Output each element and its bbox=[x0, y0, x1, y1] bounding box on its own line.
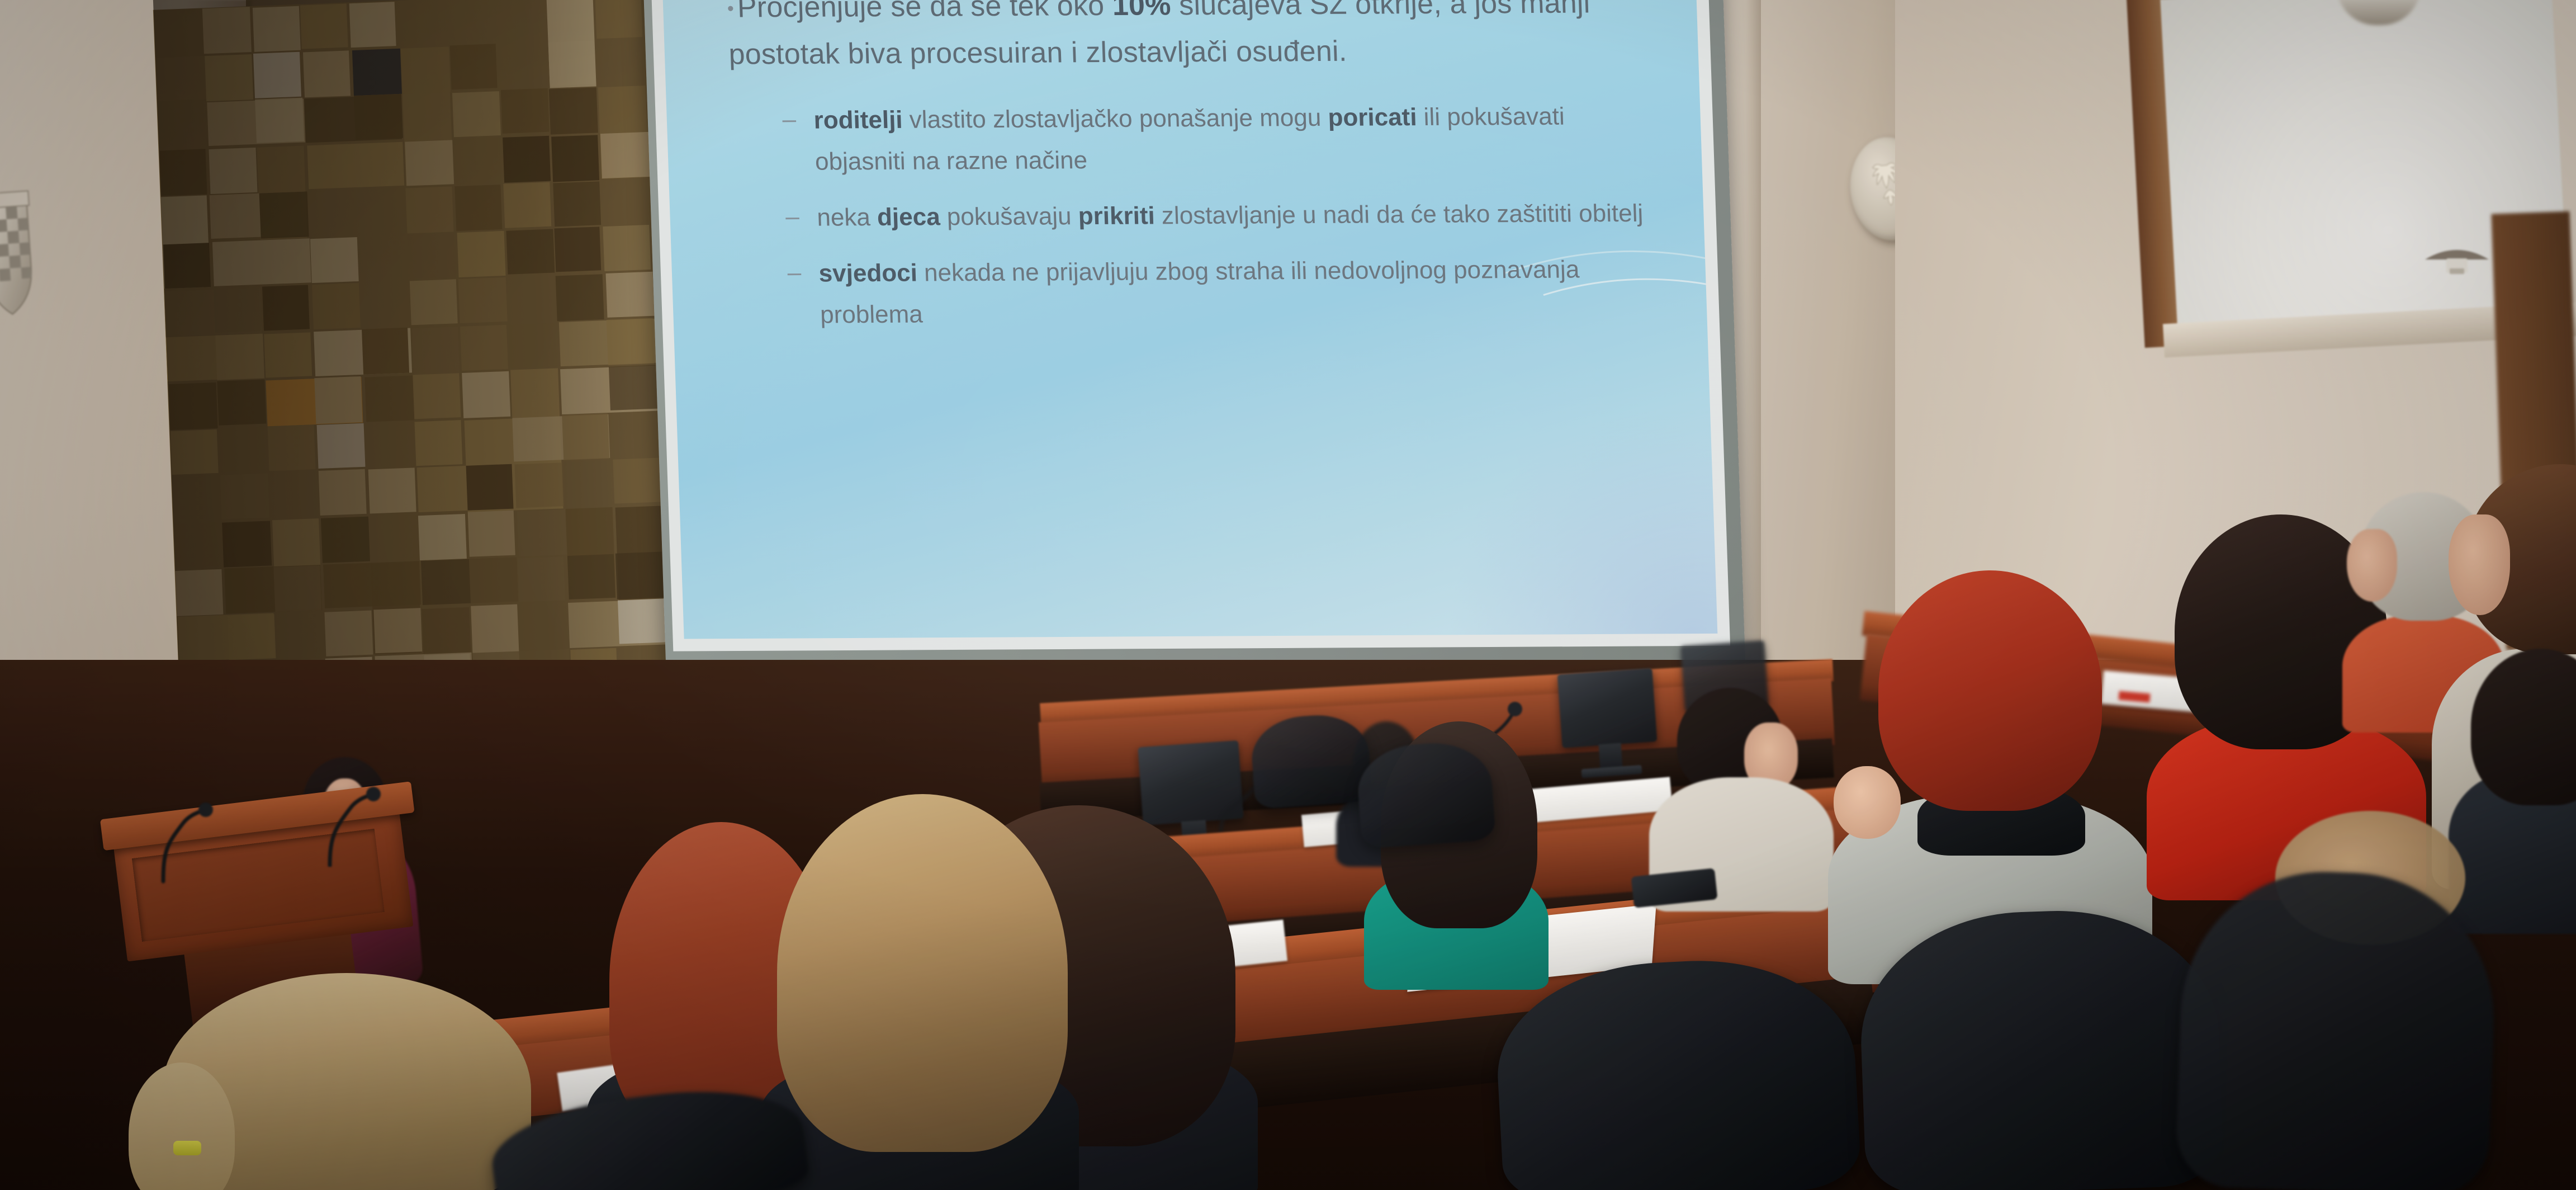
mosaic-tile bbox=[319, 469, 367, 516]
mosaic-tile bbox=[219, 426, 268, 471]
mosaic-tile bbox=[405, 140, 454, 186]
slide-sub-bullet-3: –svjedoci nekada ne prijavljuju zbog str… bbox=[783, 249, 1666, 336]
main-bullet-seg-1: 10% bbox=[1112, 0, 1172, 22]
mosaic-tile bbox=[549, 88, 598, 135]
mosaic-tile bbox=[303, 51, 351, 98]
mosaic-tile bbox=[503, 136, 551, 183]
mosaic-tile bbox=[217, 380, 266, 426]
mosaic-tile bbox=[467, 510, 515, 557]
mosaic-tile bbox=[401, 46, 450, 93]
dash-marker: – bbox=[785, 196, 800, 238]
mosaic-tile bbox=[205, 54, 253, 101]
podium-microphone-right bbox=[313, 783, 386, 867]
mosaic-tile bbox=[222, 521, 272, 568]
hair bbox=[2471, 649, 2576, 805]
mosaic-tile bbox=[595, 0, 642, 39]
audience-red-hair-woman bbox=[1817, 570, 2163, 973]
mosaic-tile bbox=[509, 323, 556, 369]
wall-sconce-icon bbox=[2421, 240, 2493, 280]
mosaic-tile bbox=[457, 230, 506, 277]
slide-sub-bullet-1: –roditelji vlastito zlostavljačko ponaša… bbox=[778, 96, 1661, 183]
mosaic-tile bbox=[317, 423, 366, 469]
mosaic-tile bbox=[268, 424, 316, 471]
mosaic-tile bbox=[262, 285, 310, 330]
mosaic-tile bbox=[554, 226, 602, 272]
sub2-seg-1: djeca bbox=[877, 203, 940, 231]
mosaic-tile bbox=[325, 611, 373, 657]
mosaic-tile bbox=[422, 607, 471, 654]
mosaic-tile bbox=[312, 283, 361, 330]
presentation-slide: •Procjenjuje se da se tek oko 10% slučaj… bbox=[661, 0, 1717, 639]
mosaic-tile bbox=[460, 324, 508, 371]
mosaic-tile bbox=[171, 429, 219, 475]
mosaic-tile bbox=[605, 271, 655, 318]
presentation-photo-scene: •Procjenjuje se da se tek oko 10% slučaj… bbox=[0, 0, 2576, 1190]
mosaic-tile bbox=[453, 138, 501, 185]
mosaic-tile bbox=[551, 135, 599, 182]
dash-marker: – bbox=[787, 252, 802, 294]
mosaic-tile bbox=[518, 557, 565, 602]
sub2-seg-3: prikriti bbox=[1078, 202, 1156, 230]
mosaic-tile bbox=[321, 516, 370, 563]
mosaic-tile bbox=[314, 376, 362, 424]
mosaic-tile bbox=[212, 238, 311, 286]
mosaic-tile bbox=[449, 44, 497, 89]
mosaic-tile bbox=[567, 554, 616, 599]
mosaic-tile bbox=[202, 7, 252, 54]
sub2-seg-4: zlostavljanje u nadi da će tako zaštitit… bbox=[1154, 200, 1644, 230]
mosaic-tile bbox=[273, 565, 321, 611]
mosaic-tile bbox=[364, 376, 414, 422]
sub3-seg-1: nekada ne prijavljuju zbog straha ili ne… bbox=[820, 256, 1580, 328]
mosaic-tile bbox=[548, 40, 596, 86]
mosaic-tile bbox=[515, 463, 564, 508]
dash-marker: – bbox=[782, 99, 797, 140]
mosaic-tile bbox=[410, 280, 457, 325]
mosaic-tile bbox=[458, 277, 507, 323]
hand bbox=[1834, 766, 1901, 839]
hair bbox=[1878, 570, 2102, 811]
mosaic-tile bbox=[517, 509, 566, 556]
mosaic-tile bbox=[607, 318, 655, 365]
mosaic-tile bbox=[609, 365, 657, 410]
mosaic-tile bbox=[300, 3, 348, 49]
slide-sub-bullet-list: –roditelji vlastito zlostavljačko ponaša… bbox=[778, 96, 1666, 336]
mosaic-tile bbox=[373, 608, 422, 653]
mosaic-tile bbox=[405, 186, 454, 234]
mosaic-tile bbox=[264, 332, 312, 377]
mosaic-tile bbox=[618, 599, 666, 644]
sub1-seg-0: roditelji bbox=[813, 106, 903, 134]
mosaic-tile bbox=[462, 371, 510, 418]
mosaic-tile bbox=[556, 275, 604, 322]
projection-screen: •Procjenjuje se da se tek oko 10% slučaj… bbox=[642, 0, 1746, 674]
slide-sub-bullet-2: –neka djeca pokušavaju prikriti zlostavl… bbox=[782, 193, 1663, 239]
mosaic-tile bbox=[172, 476, 221, 523]
sub1-seg-1: vlastito zlostavljačko ponašanje mogu bbox=[902, 104, 1329, 134]
mosaic-tile bbox=[413, 374, 461, 419]
mosaic-tile bbox=[454, 185, 502, 231]
mosaic-tile bbox=[220, 473, 269, 519]
mosaic-tile bbox=[227, 615, 276, 660]
sub1-seg-2: poricati bbox=[1328, 103, 1418, 131]
mosaic-tile bbox=[506, 229, 555, 275]
mosaic-tile bbox=[308, 190, 357, 237]
chair-mid-right bbox=[2175, 867, 2499, 1190]
mosaic-tile bbox=[615, 552, 664, 599]
audience-far-right-edge-woman bbox=[2449, 649, 2576, 928]
mosaic-tile bbox=[253, 6, 301, 53]
slide-main-bullet: •Procjenjuje se da se tek oko 10% slučaj… bbox=[726, 0, 1658, 78]
mosaic-tile bbox=[466, 464, 513, 511]
mosaic-tile bbox=[307, 142, 404, 189]
face bbox=[2449, 514, 2510, 615]
mosaic-tile bbox=[169, 382, 218, 430]
mosaic-tile bbox=[163, 243, 211, 289]
sub2-seg-0: neka bbox=[817, 204, 878, 232]
sub2-seg-2: pokušavaju bbox=[940, 202, 1079, 230]
mosaic-tile bbox=[469, 557, 518, 604]
mosaic-tile bbox=[504, 182, 552, 228]
mosaic-tile bbox=[253, 51, 302, 98]
mosaic-tile bbox=[408, 233, 456, 278]
mosaic-tile bbox=[259, 192, 309, 239]
mosaic-tile bbox=[399, 0, 496, 45]
mosaic-tile bbox=[216, 334, 264, 380]
sub3-seg-0: svjedoci bbox=[818, 259, 918, 287]
mosaic-tile bbox=[562, 413, 609, 460]
hair bbox=[777, 794, 1068, 1152]
mosaic-tile bbox=[501, 88, 549, 134]
mosaic-tile bbox=[368, 467, 416, 513]
mosaic-tile bbox=[214, 287, 261, 333]
mosaic-tile bbox=[354, 94, 402, 140]
mosaic-tile bbox=[415, 420, 462, 466]
bullet-marker: • bbox=[727, 0, 734, 20]
mosaic-tile bbox=[553, 181, 602, 226]
mosaic-tile bbox=[613, 458, 661, 504]
mosaic-tile bbox=[209, 148, 258, 195]
slide-text-block: •Procjenjuje se da se tek oko 10% slučaj… bbox=[726, 0, 1666, 351]
yellow-hair-tie bbox=[173, 1141, 201, 1155]
face bbox=[2347, 529, 2397, 602]
mosaic-tile bbox=[603, 225, 651, 272]
mosaic-tile bbox=[362, 328, 409, 375]
mosaic-tile bbox=[352, 49, 402, 95]
audience-man-light-shirt bbox=[1638, 688, 1839, 900]
main-bullet-seg-0: Procjenjuje se da se tek oko bbox=[737, 0, 1113, 23]
mosaic-tile bbox=[418, 514, 467, 561]
mosaic-tile bbox=[498, 42, 547, 89]
audience-foreground-blonde-head bbox=[129, 973, 542, 1190]
mosaic-tile bbox=[174, 522, 222, 568]
mosaic-tile bbox=[255, 98, 304, 143]
mosaic-tile bbox=[310, 237, 358, 283]
mosaic-tile bbox=[159, 149, 207, 196]
mosaic-tile bbox=[452, 91, 501, 137]
mosaic-tile bbox=[175, 569, 223, 616]
podium-microphone-left bbox=[151, 800, 224, 884]
mosaic-tile bbox=[349, 2, 396, 48]
